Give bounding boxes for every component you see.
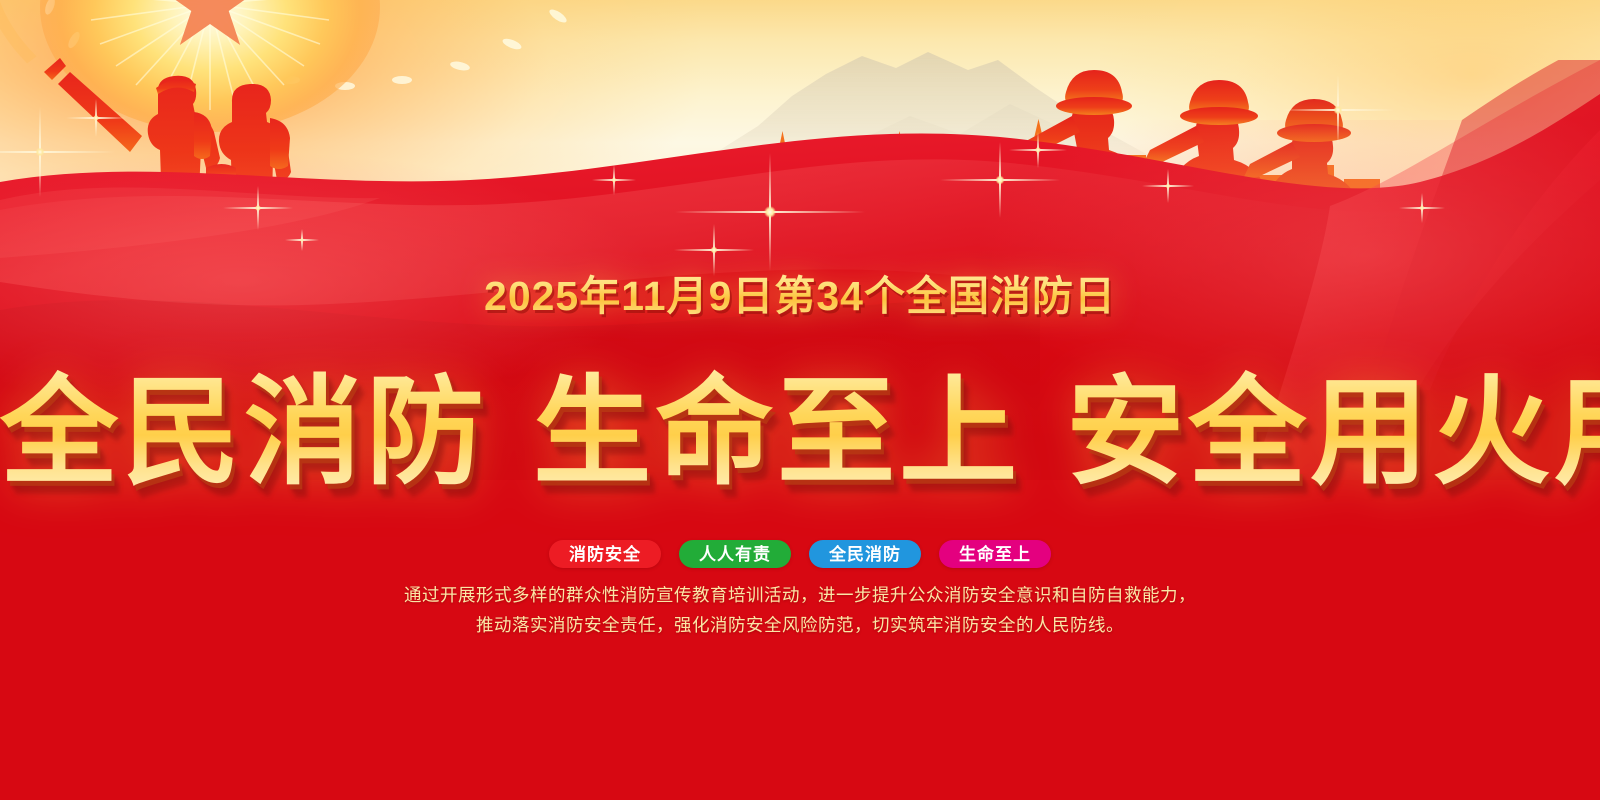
slogan-badge-4[interactable]: 生命至上 (939, 540, 1051, 568)
description-line-2: 推动落实消防安全责任，强化消防安全风险防范，切实筑牢消防安全的人民防线。 (0, 610, 1600, 640)
description-line-1: 通过开展形式多样的群众性消防宣传教育培训活动，进一步提升公众消防安全意识和自防自… (0, 580, 1600, 610)
poster-subtitle: 2025年11月9日第34个全国消防日 (0, 262, 1600, 322)
poster-headline: 全民消防 生命至上 安全用火用电 (0, 336, 1600, 507)
slogan-badge-2[interactable]: 人人有责 (679, 540, 791, 568)
slogan-badge-1[interactable]: 消防安全 (549, 540, 661, 568)
poster-description: 通过开展形式多样的群众性消防宣传教育培训活动，进一步提升公众消防安全意识和自防自… (0, 580, 1600, 640)
slogan-badge-3[interactable]: 全民消防 (809, 540, 921, 568)
slogan-badge-row: 消防安全 人人有责 全民消防 生命至上 (0, 540, 1600, 568)
fire-safety-day-poster: 2025年11月9日第34个全国消防日 全民消防 生命至上 安全用火用电 消防安… (0, 0, 1600, 800)
